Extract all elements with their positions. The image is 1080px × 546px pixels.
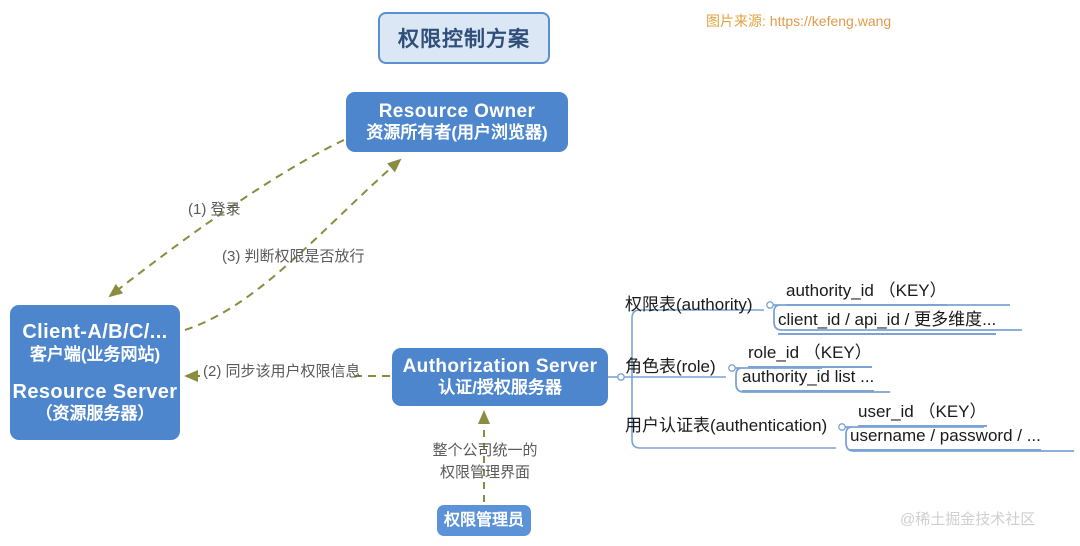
page-title: 权限控制方案 (378, 12, 550, 64)
node-authorization-server-en: Authorization Server (403, 355, 598, 378)
node-permission-admin-label: 权限管理员 (444, 511, 524, 531)
node-client-en: Client-A/B/C/... (22, 320, 167, 344)
mindmap-branch-authentication[interactable]: 用户认证表(authentication) (625, 411, 827, 436)
mindmap-leaf-user-fields[interactable]: username / password / ... (850, 426, 1041, 451)
mindmap-branch-authority[interactable]: 权限表(authority) (625, 290, 753, 315)
page-title-text: 权限控制方案 (398, 23, 530, 53)
node-client-cn: 客户端(业务网站) (22, 345, 167, 366)
mindmap-branch-role[interactable]: 角色表(role) (625, 352, 716, 377)
node-authorization-server[interactable]: Authorization Server 认证/授权服务器 (392, 348, 608, 406)
node-resource-owner-cn: 资源所有者(用户浏览器) (366, 123, 547, 144)
admin-note-line1: 整个公司统一的 (420, 440, 550, 462)
flow-label-step3: (3) 判断权限是否放行 (222, 245, 365, 266)
node-resource-server-en: Resource Server (13, 380, 178, 404)
mindmap-leaf-authority-fields[interactable]: client_id / api_id / 更多维度... (778, 305, 996, 335)
node-resource-owner-en: Resource Owner (379, 100, 536, 123)
node-authorization-server-cn: 认证/授权服务器 (438, 378, 562, 399)
node-permission-admin[interactable]: 权限管理员 (437, 505, 531, 536)
node-resource-owner[interactable]: Resource Owner 资源所有者(用户浏览器) (346, 92, 568, 152)
node-client-resource-server[interactable]: Client-A/B/C/... 客户端(业务网站) Resource Serv… (10, 305, 180, 440)
flow-label-step1: (1) 登录 (188, 198, 241, 219)
node-resource-server-cn: （资源服务器） (13, 404, 178, 425)
watermark: @稀土掘金技术社区 (900, 508, 1035, 529)
diagram-canvas: 权限控制方案 图片来源: https://kefeng.wang Resourc… (0, 0, 1080, 546)
source-credit-url: https://kefeng.wang (770, 13, 891, 29)
mindmap-leaf-user-id[interactable]: user_id （KEY） (858, 397, 987, 427)
admin-note-line2: 权限管理界面 (420, 462, 550, 484)
admin-note: 整个公司统一的 权限管理界面 (420, 440, 550, 484)
source-credit: 图片来源: https://kefeng.wang (706, 11, 891, 31)
node-client-group: Client-A/B/C/... 客户端(业务网站) (22, 320, 167, 365)
mindmap-leaf-role-id[interactable]: role_id （KEY） (748, 338, 872, 368)
flow-label-step2: (2) 同步该用户权限信息 (203, 360, 361, 381)
mindmap-leaf-role-fields[interactable]: authority_id list ... (742, 367, 874, 392)
node-resource-server-group: Resource Server （资源服务器） (13, 380, 178, 425)
source-credit-label: 图片来源: (706, 13, 770, 29)
mindmap-leaf-authority-id[interactable]: authority_id （KEY） (786, 276, 947, 306)
